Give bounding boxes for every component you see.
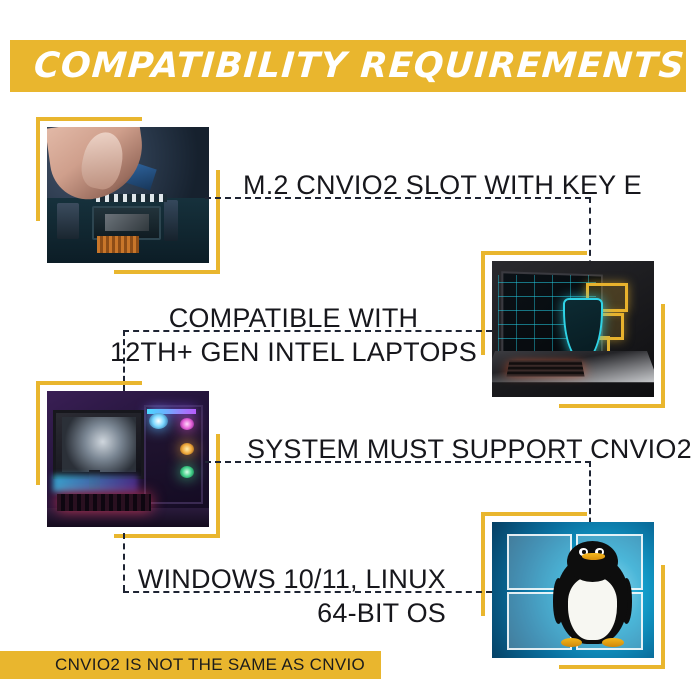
caption-line-2: 12TH+ GEN INTEL LAPTOPS bbox=[110, 335, 477, 369]
caption-line-1: SYSTEM MUST SUPPORT CNVIO2 bbox=[247, 432, 692, 466]
feature-image-operating-systems bbox=[492, 522, 654, 658]
feature-caption-m2-slot: M.2 CNVIO2 SLOT WITH KEY E bbox=[243, 168, 642, 202]
footer-note: CNVIO2 IS NOT THE SAME AS CNVIO bbox=[55, 655, 365, 675]
header-banner: COMPATIBILITY REQUIREMENTS bbox=[10, 40, 686, 92]
feature-image-intel-laptops bbox=[492, 261, 654, 397]
caption-line-2: 64-BIT OS bbox=[100, 596, 446, 630]
caption-line-1: M.2 CNVIO2 SLOT WITH KEY E bbox=[243, 168, 642, 202]
feature-caption-intel-laptops: COMPATIBLE WITH 12TH+ GEN INTEL LAPTOPS bbox=[110, 301, 477, 369]
feature-caption-system-support: SYSTEM MUST SUPPORT CNVIO2 bbox=[247, 432, 692, 466]
caption-line-1: WINDOWS 10/11, LINUX bbox=[100, 562, 446, 596]
infographic-canvas: COMPATIBILITY REQUIREMENTS M.2 CNVIO2 SL… bbox=[0, 0, 700, 700]
page-title: COMPATIBILITY REQUIREMENTS bbox=[33, 46, 687, 86]
footer-banner: CNVIO2 IS NOT THE SAME AS CNVIO bbox=[0, 651, 381, 679]
feature-image-m2-slot bbox=[47, 127, 209, 263]
feature-caption-operating-systems: WINDOWS 10/11, LINUX 64-BIT OS bbox=[100, 562, 446, 630]
feature-image-system-support bbox=[47, 391, 209, 527]
linux-penguin-icon bbox=[557, 541, 628, 644]
caption-line-1: COMPATIBLE WITH bbox=[110, 301, 477, 335]
